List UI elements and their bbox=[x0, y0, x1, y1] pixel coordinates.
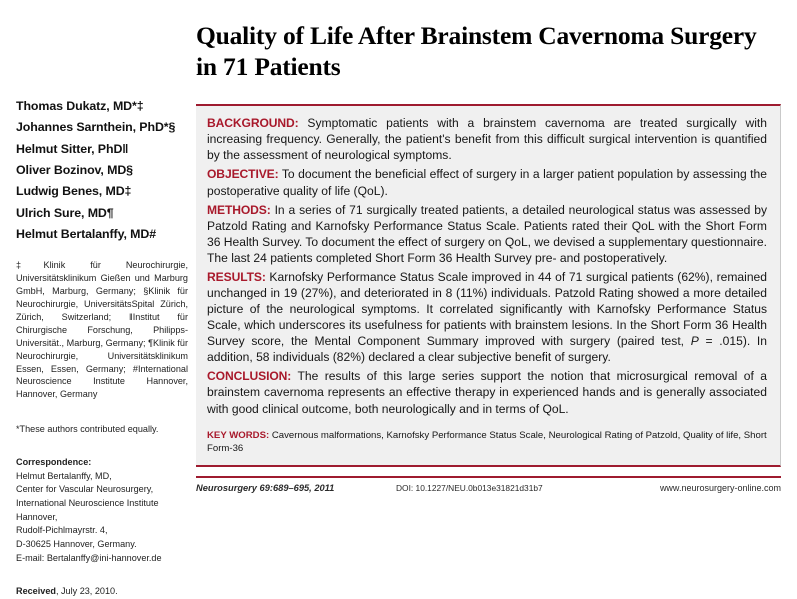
footer-divider: Neurosurgery 69:689–695, 2011 DOI: 10.12… bbox=[196, 476, 781, 493]
correspondence-heading: Correspondence: bbox=[16, 456, 188, 470]
affiliations: ‡Klinik für Neurochirurgie, Universitäts… bbox=[16, 259, 188, 401]
page-title: Quality of Life After Brainstem Cavernom… bbox=[196, 20, 781, 82]
correspondence-line: Rudolf-Pichlmayrstr. 4, bbox=[16, 524, 188, 538]
correspondence-line: International Neuroscience Institute Han… bbox=[16, 497, 188, 524]
abstract-section-methods: METHODS: In a series of 71 surgically tr… bbox=[207, 202, 767, 266]
p-value-symbol: P bbox=[691, 334, 699, 348]
author-name: Helmut Sitter, PhD‖ bbox=[16, 139, 188, 160]
equal-contribution-note: *These authors contributed equally. bbox=[16, 423, 188, 436]
abstract-section-results: RESULTS: Karnofsky Performance Status Sc… bbox=[207, 269, 767, 365]
correspondence-email: E-mail: Bertalanffy@ini-hannover.de bbox=[16, 552, 188, 566]
journal-citation: Neurosurgery 69:689–695, 2011 bbox=[196, 483, 396, 493]
author-name: Helmut Bertalanffy, MD# bbox=[16, 224, 188, 245]
author-name: Johannes Sarnthein, PhD*§ bbox=[16, 117, 188, 138]
received-value: , July 23, 2010. bbox=[56, 586, 118, 596]
section-label-results: RESULTS: bbox=[207, 270, 266, 284]
abstract-section-objective: OBJECTIVE: To document the beneficial ef… bbox=[207, 166, 767, 198]
doi-text: DOI: 10.1227/NEU.0b013e31821d31b7 bbox=[396, 483, 606, 493]
article-column: Quality of Life After Brainstem Cavernom… bbox=[196, 20, 781, 493]
correspondence-line: Center for Vascular Neurosurgery, bbox=[16, 483, 188, 497]
section-label-methods: METHODS: bbox=[207, 203, 271, 217]
abstract-panel: BACKGROUND: Symptomatic patients with a … bbox=[196, 104, 781, 467]
abstract-body: BACKGROUND: Symptomatic patients with a … bbox=[207, 115, 767, 455]
keywords-label: KEY WORDS: bbox=[207, 430, 269, 441]
correspondence-line: Helmut Bertalanffy, MD, bbox=[16, 470, 188, 484]
received-date: Received, July 23, 2010. bbox=[16, 585, 188, 599]
abstract-section-background: BACKGROUND: Symptomatic patients with a … bbox=[207, 115, 767, 163]
abstract-section-conclusion: CONCLUSION: The results of this large se… bbox=[207, 368, 767, 416]
journal-footer: Neurosurgery 69:689–695, 2011 DOI: 10.12… bbox=[196, 483, 781, 493]
metadata-column: Thomas Dukatz, MD*‡ Johannes Sarnthein, … bbox=[16, 96, 188, 599]
correspondence-line: D-30625 Hannover, Germany. bbox=[16, 538, 188, 552]
author-name: Oliver Bozinov, MD§ bbox=[16, 160, 188, 181]
section-text-conclusion: The results of this large series support… bbox=[207, 369, 767, 415]
journal-url[interactable]: www.neurosurgery-online.com bbox=[606, 483, 781, 493]
keywords-section: KEY WORDS: Cavernous malformations, Karn… bbox=[207, 429, 767, 455]
section-text-methods: In a series of 71 surgically treated pat… bbox=[207, 203, 767, 265]
section-label-conclusion: CONCLUSION: bbox=[207, 369, 291, 383]
correspondence-block: Correspondence: Helmut Bertalanffy, MD, … bbox=[16, 456, 188, 565]
section-text-results-part1: Karnofsky Performance Status Scale impro… bbox=[207, 270, 767, 348]
author-list: Thomas Dukatz, MD*‡ Johannes Sarnthein, … bbox=[16, 96, 188, 245]
article-page: Thomas Dukatz, MD*‡ Johannes Sarnthein, … bbox=[0, 0, 797, 575]
section-label-background: BACKGROUND: bbox=[207, 116, 299, 130]
section-text-objective: To document the beneficial effect of sur… bbox=[207, 167, 767, 197]
author-name: Ludwig Benes, MD‡ bbox=[16, 181, 188, 202]
section-label-objective: OBJECTIVE: bbox=[207, 167, 279, 181]
author-name: Thomas Dukatz, MD*‡ bbox=[16, 96, 188, 117]
author-name: Ulrich Sure, MD¶ bbox=[16, 203, 188, 224]
received-label: Received bbox=[16, 586, 56, 596]
keywords-text: Cavernous malformations, Karnofsky Perfo… bbox=[207, 430, 767, 454]
